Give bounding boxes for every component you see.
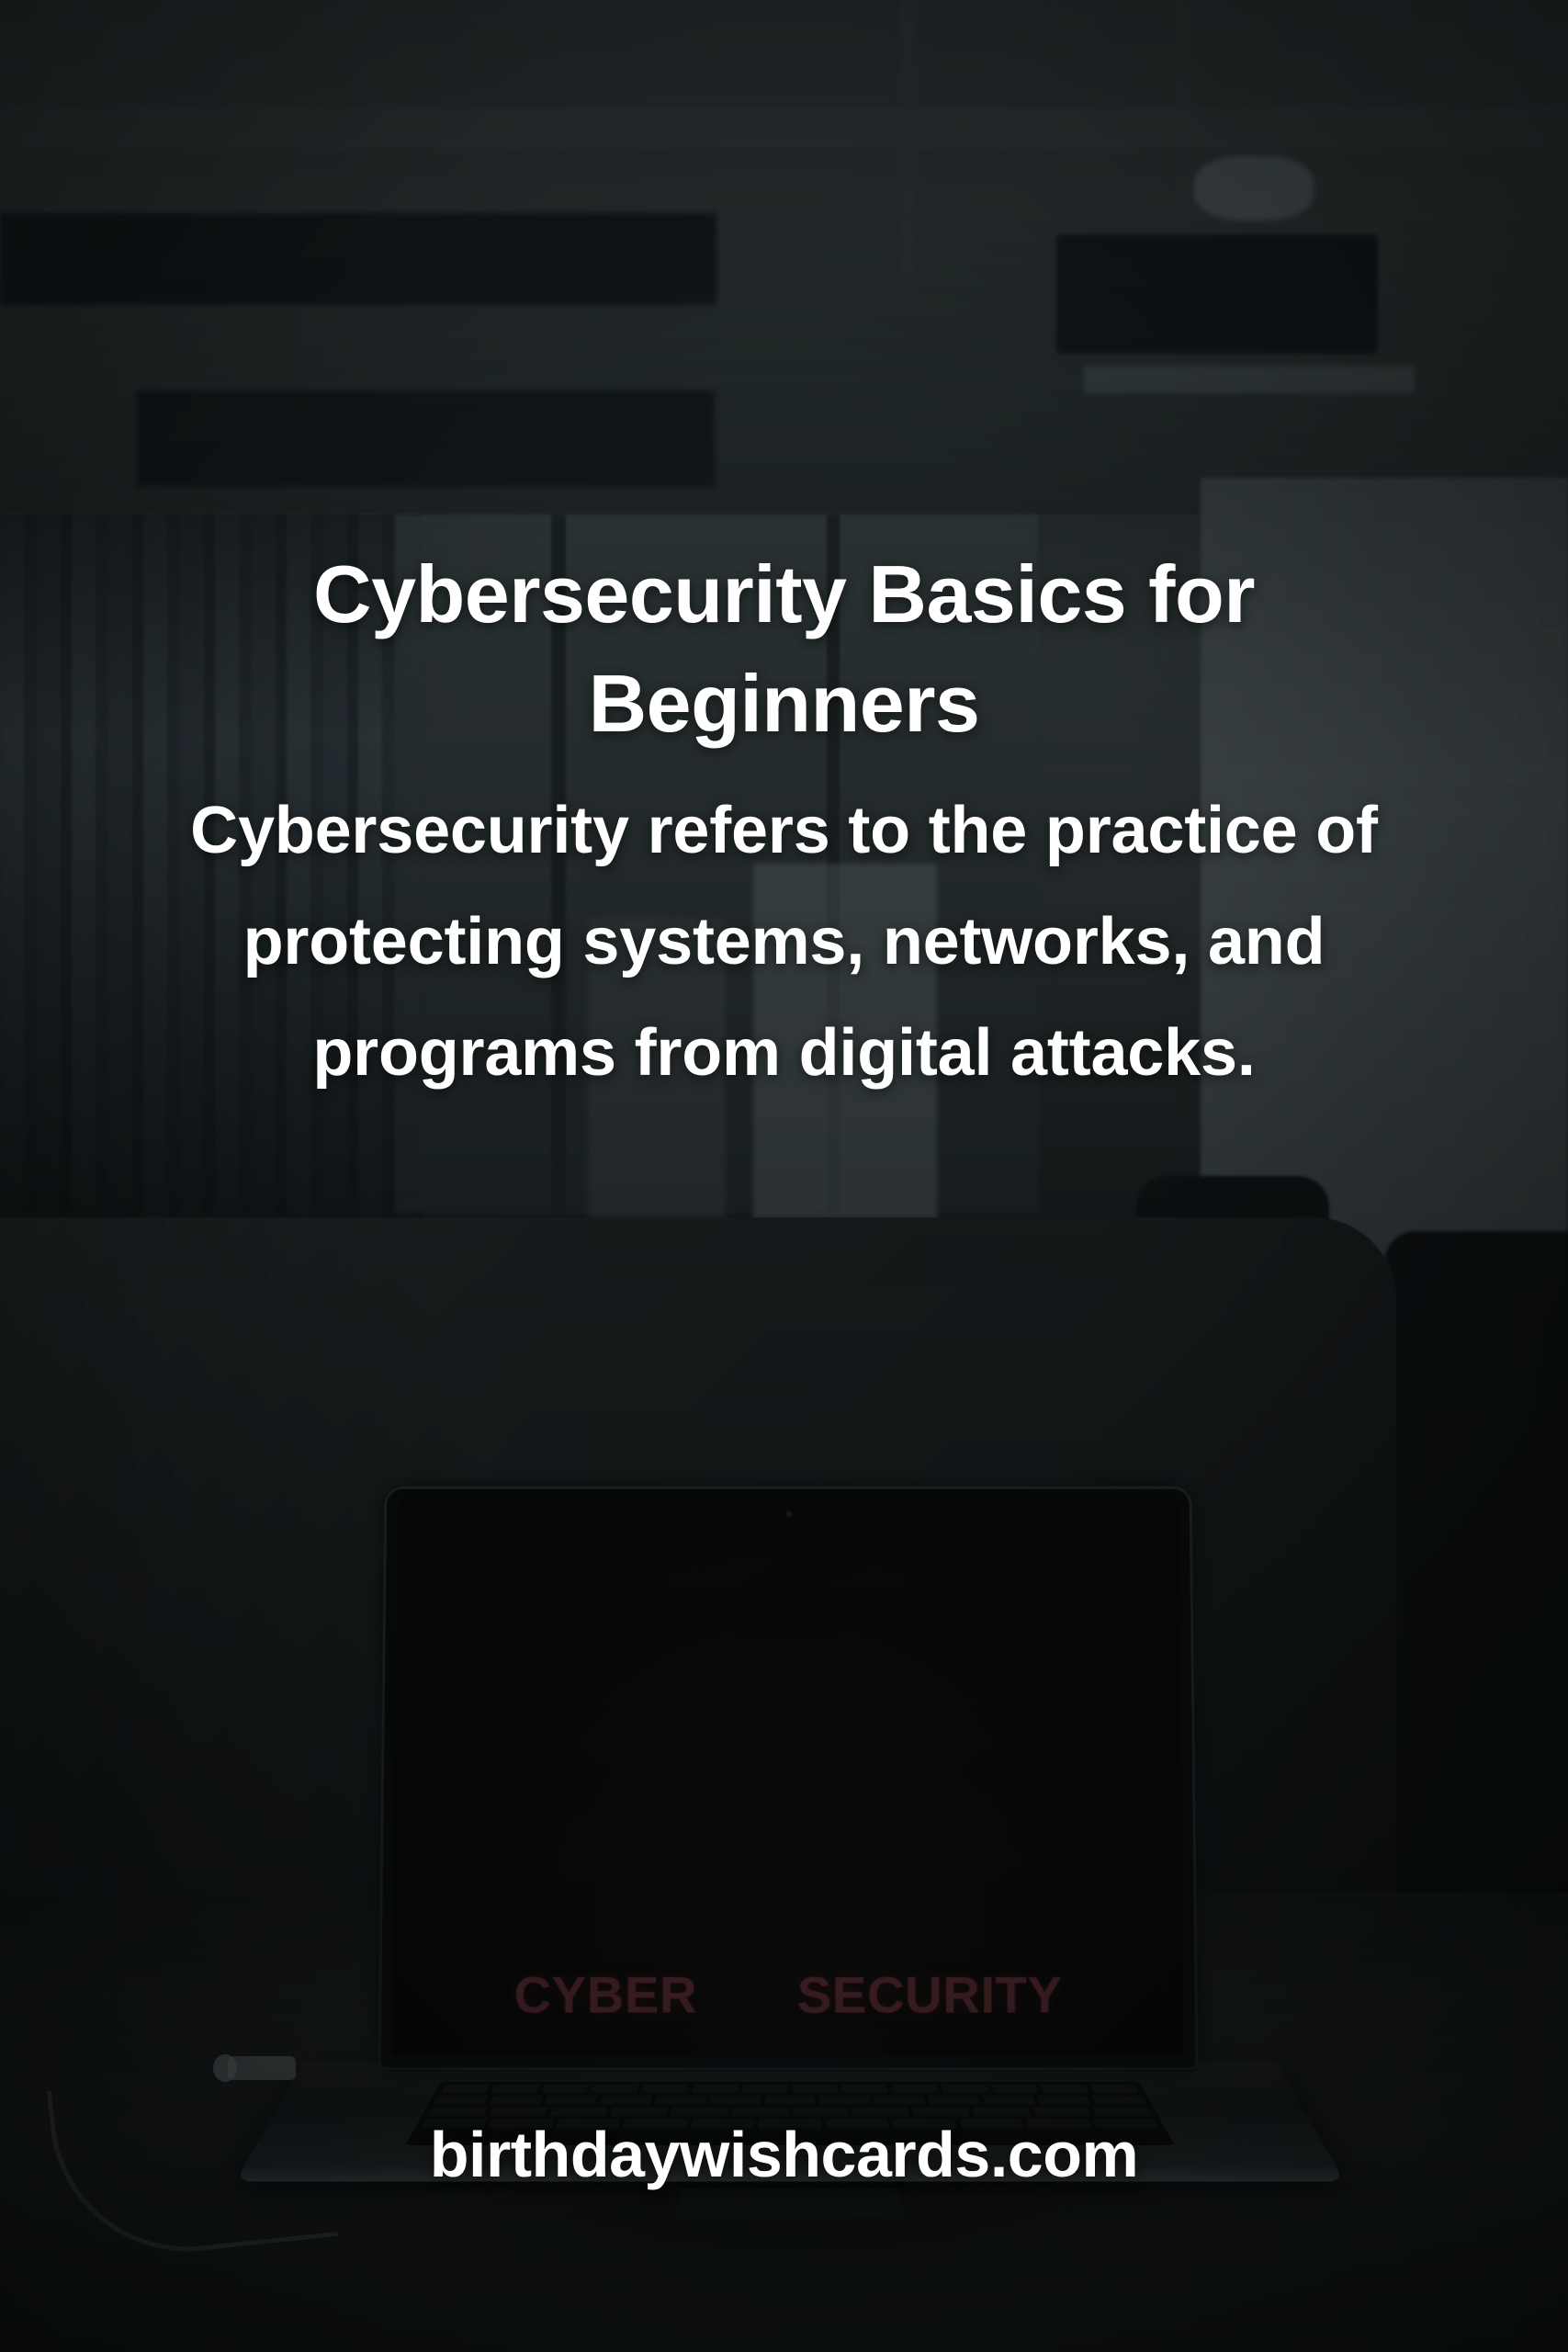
background-photo: CYBER SECURITY [0, 0, 1568, 2352]
photo-vignette [0, 0, 1568, 2352]
site-watermark: birthdaywishcards.com [0, 2118, 1568, 2191]
poster-canvas: CYBER SECURITY Cybersecurity Basics for … [0, 0, 1568, 2352]
